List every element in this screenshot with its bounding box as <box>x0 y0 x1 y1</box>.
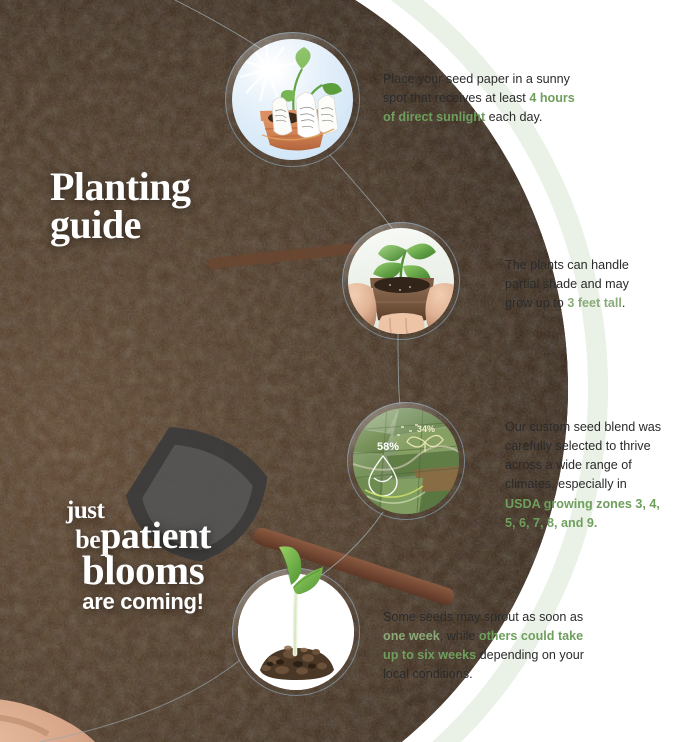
step-text-shade-run-2: . <box>622 296 626 310</box>
bubble-ring-1 <box>225 32 360 167</box>
step-image-zones[interactable]: 58% 34% <box>347 402 465 520</box>
step-image-sunlight[interactable] <box>225 32 360 167</box>
step-text-sprout: Some seeds may sprout as soon as one wee… <box>383 608 588 685</box>
step-text-sprout-run-1: one week <box>383 629 440 643</box>
step-text-sprout-run-2: , while <box>440 629 479 643</box>
step-text-zones-run-0: Our custom seed blend was carefully sele… <box>505 420 661 491</box>
bubble-ring-2 <box>342 222 460 340</box>
step-text-shade: The plants can handle partial shade and … <box>505 256 645 313</box>
step-text-zones-run-1: USDA growing zones 3, 4, 5, 6, 7, 8, and… <box>505 497 660 530</box>
step-text-zones: Our custom seed blend was carefully sele… <box>505 418 665 533</box>
step-image-shade[interactable] <box>342 222 460 340</box>
bubble-ring-3 <box>347 402 465 520</box>
sprout-leaves-overflow <box>245 525 355 615</box>
step-text-sunlight: Place your seed paper in a sunny spot th… <box>383 70 583 127</box>
planting-guide-infographic: Planting guide just bepatient blooms are… <box>0 0 679 742</box>
step-text-shade-run-1: 3 feet tall <box>567 296 622 310</box>
step-text-sprout-run-0: Some seeds may sprout as soon as <box>383 610 583 624</box>
step-text-sunlight-run-2: each day. <box>485 110 542 124</box>
